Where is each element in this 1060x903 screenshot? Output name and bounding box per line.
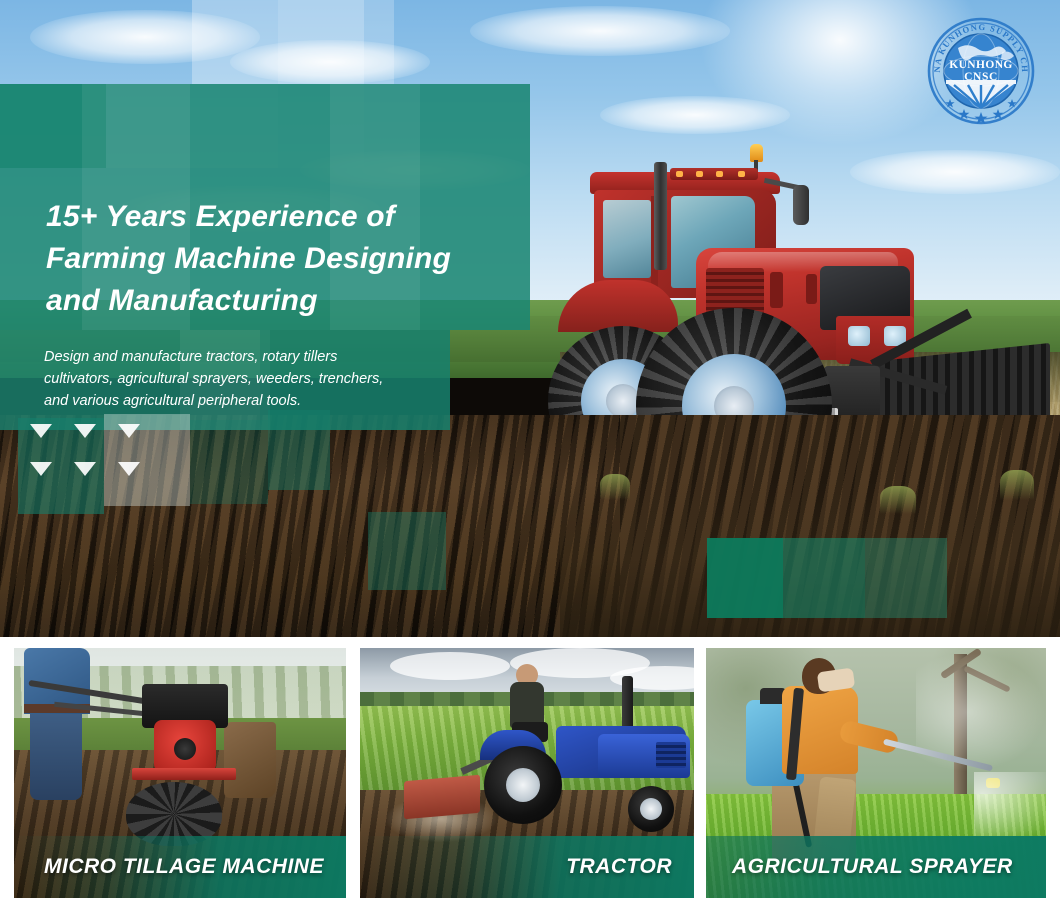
tractor-rear-rim — [506, 768, 540, 802]
triangle-down-icon — [74, 424, 96, 438]
mosaic-panel — [364, 0, 394, 84]
tractor-mirror — [793, 185, 809, 225]
thumbnail-caption-label: AGRICULTURAL SPRAYER — [732, 855, 1013, 879]
thumbnail-caption-label: TRACTOR — [566, 855, 672, 879]
rotary-tiller-implement — [404, 775, 480, 820]
tractor-work-light — [676, 171, 683, 177]
cloud-shape — [600, 96, 790, 134]
headline-line-1: 15+ Years Experience of — [46, 196, 516, 238]
cloud-shape — [390, 652, 510, 680]
thumbnail-caption-bar: AGRICULTURAL SPRAYER — [706, 836, 1046, 898]
accent-block — [865, 538, 947, 618]
headline-line-2: Farming Machine Designing — [46, 238, 516, 280]
logo-center-line-1: KUNHONG — [949, 59, 1013, 71]
thumbnail-agricultural-sprayer[interactable]: AGRICULTURAL SPRAYER — [706, 648, 1046, 898]
kunhong-cnsc-seal-logo: KUNHONG CNSC CHINA KUNHONG SUPPLY CHAIN — [924, 14, 1038, 128]
tractor-work-light — [738, 171, 745, 177]
triangle-decor-grid — [30, 424, 140, 504]
thumbnail-caption-bar: MICRO TILLAGE MACHINE — [14, 836, 346, 898]
tractor-grille — [656, 742, 686, 768]
subcopy-line-3: and various agricultural peripheral tool… — [44, 390, 464, 412]
thumbnail-micro-tillage-machine[interactable]: MICRO TILLAGE MACHINE — [14, 648, 346, 898]
mosaic-panel — [278, 0, 364, 84]
tractor-headlight — [848, 326, 870, 346]
thumbnail-caption-bar: TRACTOR — [360, 836, 694, 898]
triangle-down-icon — [74, 462, 96, 476]
accent-block — [707, 538, 783, 618]
triangle-down-icon — [30, 424, 52, 438]
tractor-rear-fender — [558, 280, 678, 332]
tractor-hood-vent — [770, 272, 783, 308]
triangle-down-icon — [118, 424, 140, 438]
hero-subcopy: Design and manufacture tractors, rotary … — [44, 346, 464, 412]
decor-panel — [268, 410, 330, 490]
decor-panel — [190, 420, 268, 504]
hero-banner: 15+ Years Experience of Farming Machine … — [0, 0, 1060, 637]
tractor-side-window — [603, 200, 651, 278]
grass-tuft — [1000, 470, 1034, 500]
cloud-shape — [470, 6, 730, 56]
operator-legs — [30, 710, 82, 800]
subcopy-line-1: Design and manufacture tractors, rotary … — [44, 346, 464, 368]
logo-center-line-2: CNSC — [964, 71, 998, 83]
thumbnail-caption-label: MICRO TILLAGE MACHINE — [44, 855, 324, 879]
tractor-hood-vent — [806, 274, 817, 304]
tractor-work-light — [716, 171, 723, 177]
tiller-deck — [132, 768, 236, 780]
tractor-work-light — [696, 171, 703, 177]
thumbnail-tractor[interactable]: TRACTOR — [360, 648, 694, 898]
product-thumbnail-row: MICRO TILLAGE MACHINE TRACTOR — [0, 648, 1060, 900]
tractor-front-rim — [640, 798, 662, 820]
page-title: 15+ Years Experience of Farming Machine … — [46, 196, 516, 322]
triangle-down-icon — [118, 462, 140, 476]
triangle-down-icon — [30, 462, 52, 476]
headline-line-3: and Manufacturing — [46, 280, 516, 322]
grass-tuft — [880, 486, 916, 514]
grass-tuft — [600, 474, 630, 500]
accent-block — [368, 512, 446, 590]
tiller-engine-hub — [174, 738, 196, 760]
tractor-exhaust-stack — [654, 162, 667, 270]
accent-block — [783, 538, 865, 618]
tiller-rusty-attachment — [224, 722, 276, 798]
subcopy-line-2: cultivators, agricultural sprayers, weed… — [44, 368, 464, 390]
